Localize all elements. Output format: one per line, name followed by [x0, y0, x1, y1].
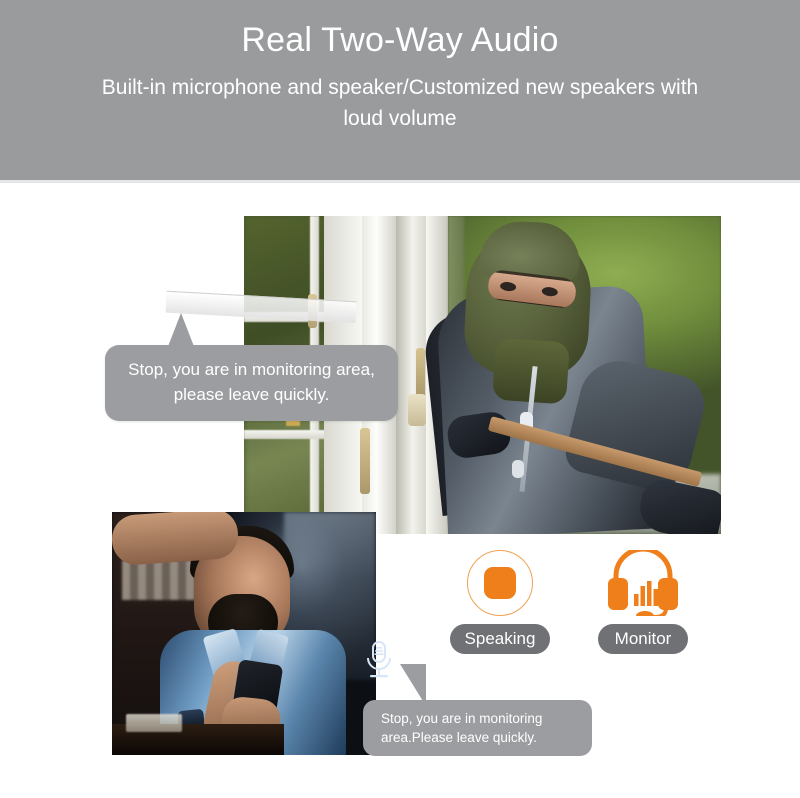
door-handle-lower [360, 428, 370, 494]
banner-bottom-edge [0, 180, 800, 183]
record-button-square [484, 567, 516, 599]
man-with-phone-photo [112, 512, 376, 755]
status-item-monitor[interactable]: Monitor [583, 550, 703, 654]
page-title: Real Two-Way Audio [241, 18, 558, 62]
phone-speaker-bubble-text: Stop, you are in monitoring area.Please … [363, 709, 592, 747]
record-button-icon[interactable] [467, 550, 533, 616]
page-subtitle: Built-in microphone and speaker/Customiz… [80, 72, 720, 134]
product-feature-slide: Real Two-Way Audio Built-in microphone a… [0, 0, 800, 798]
jacket-zipper-pull-lower [512, 460, 524, 478]
door-handle-lever [408, 394, 426, 426]
paper-on-table [126, 714, 182, 732]
header-banner: Real Two-Way Audio Built-in microphone a… [0, 0, 800, 183]
camera-speaker-bubble: Stop, you are in monitoring area, please… [105, 345, 398, 421]
camera-speaker-bubble-tail [167, 313, 195, 349]
status-indicator-group: Speaking Monitor [440, 550, 700, 660]
status-badge-speaking: Speaking [450, 624, 551, 654]
status-item-speaking[interactable]: Speaking [440, 550, 560, 654]
camera-speaker-bubble-text: Stop, you are in monitoring area, please… [105, 357, 398, 407]
status-badge-monitor: Monitor [598, 624, 689, 654]
headset-icon[interactable] [603, 550, 683, 616]
man-left-arm [112, 512, 240, 566]
microphone-icon [362, 640, 396, 682]
phone-speaker-bubble: Stop, you are in monitoring area.Please … [363, 700, 592, 756]
